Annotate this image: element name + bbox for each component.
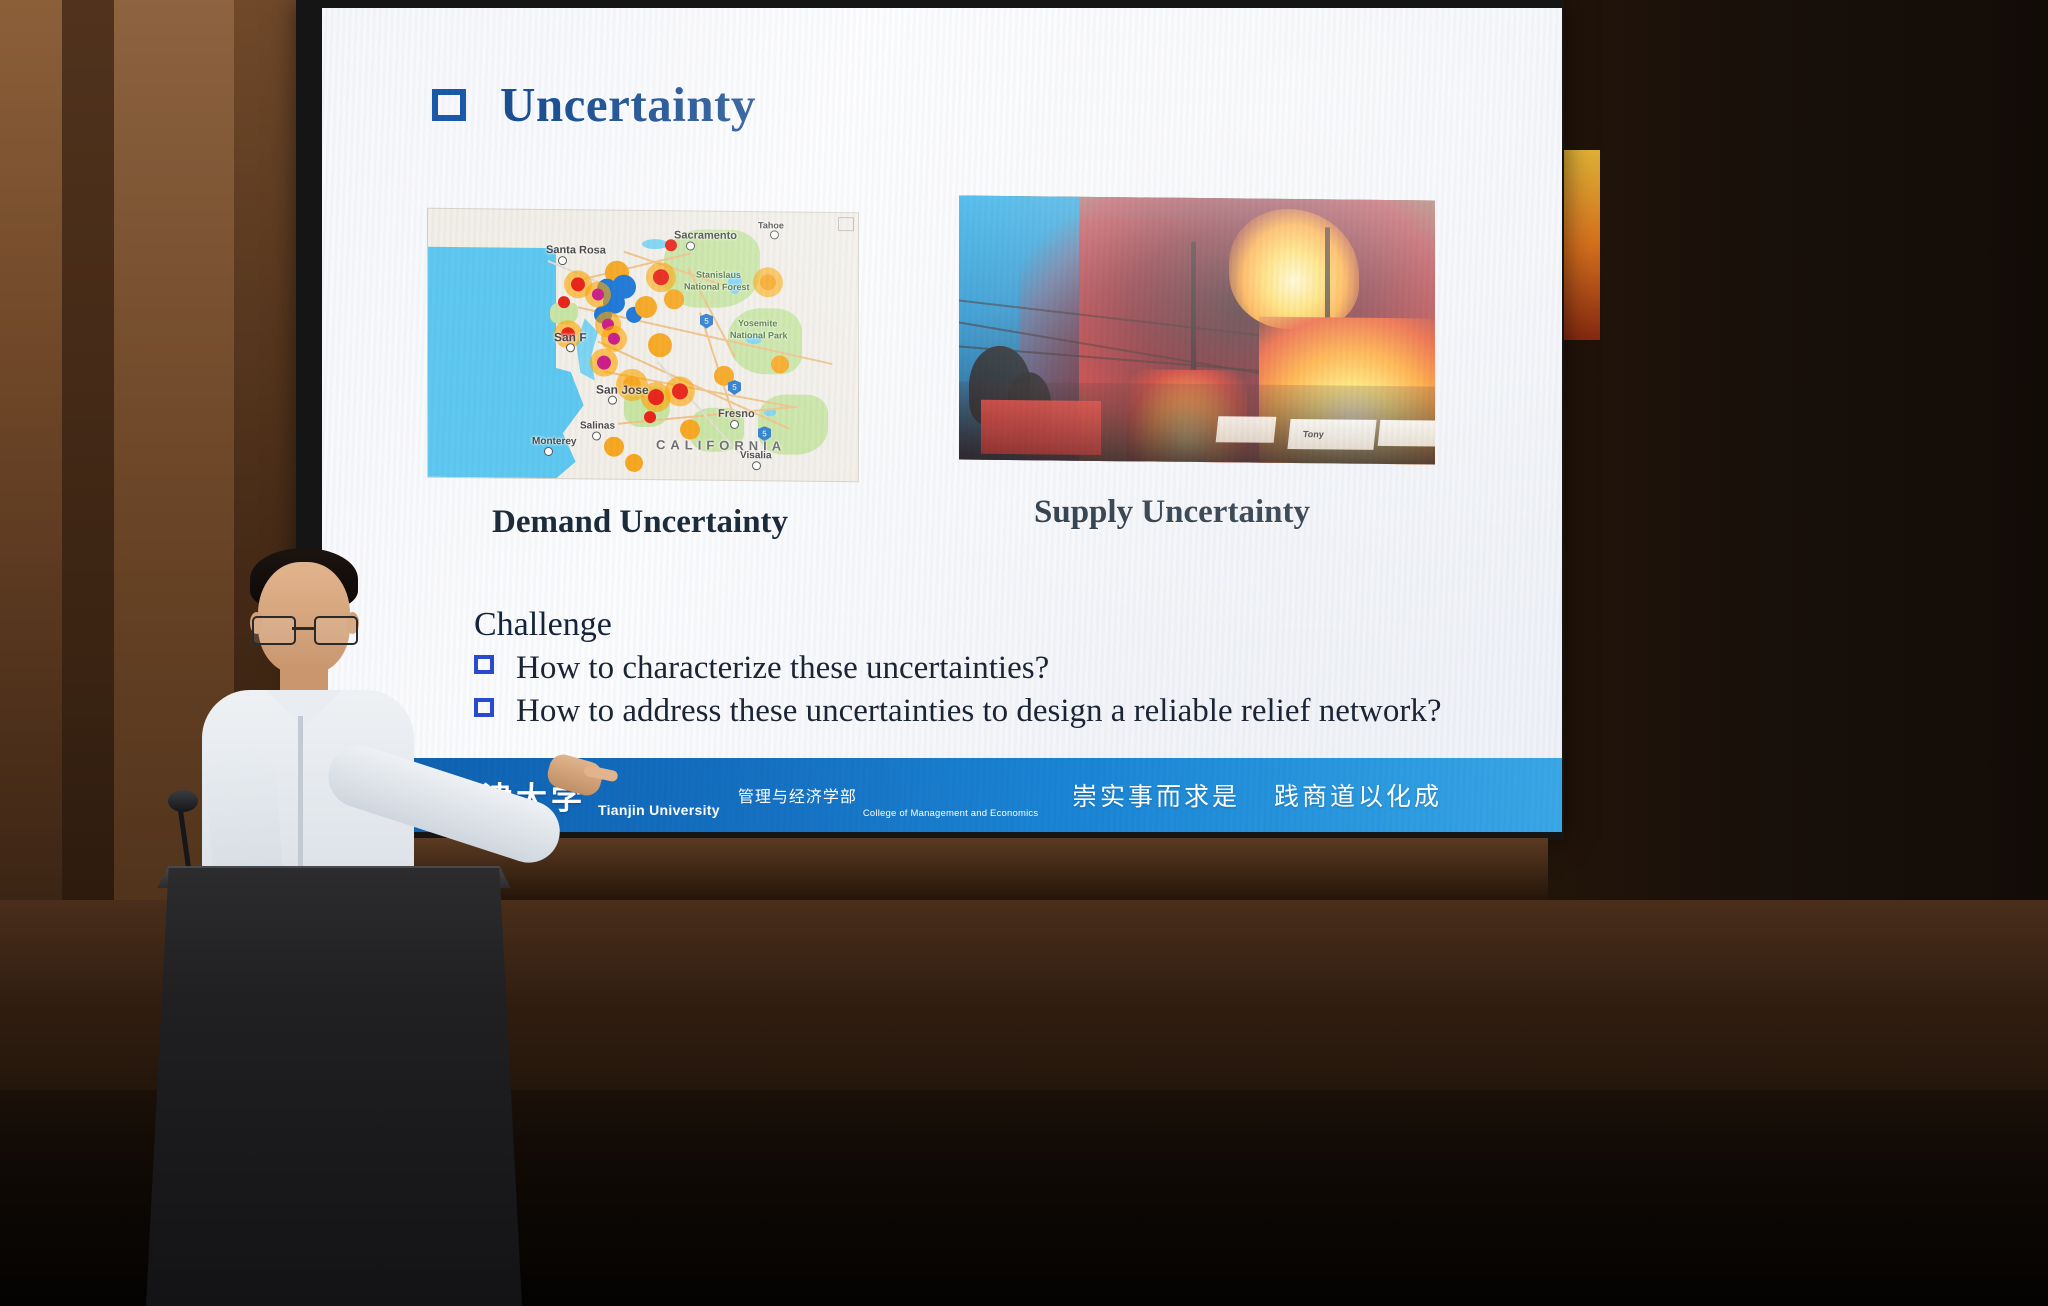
map-label: CALIFORNIA (656, 437, 786, 453)
map-marker (604, 437, 624, 457)
map-label: Sacramento (674, 229, 737, 242)
map-city-dot (752, 461, 761, 470)
challenge-item-text: How to address these uncertainties to de… (516, 693, 1442, 730)
motto-right: 践商道以化成 (1274, 777, 1442, 813)
map-label: Fresno (718, 408, 755, 420)
glasses-lens (314, 616, 358, 645)
map-marker (771, 355, 789, 373)
photo-banner (1378, 420, 1435, 447)
slide-title-row: Uncertainty (432, 76, 756, 133)
photo-fire-truck (981, 400, 1101, 455)
supply-uncertainty-photo: Tony (959, 196, 1435, 465)
highway-shield-icon: 5 (700, 314, 713, 329)
map-marker (648, 389, 664, 405)
challenge-list-item: How to characterize these uncertainties? (474, 650, 1442, 687)
college-name-en: College of Management and Economics (863, 808, 1038, 819)
map-city-dot (544, 447, 553, 456)
map-marker (664, 289, 684, 309)
highway-shield-icon: 5 (728, 380, 741, 395)
caption-supply-uncertainty: Supply Uncertainty (1034, 494, 1310, 531)
challenge-list-item: How to address these uncertainties to de… (474, 693, 1442, 730)
map-label: Salinas (580, 420, 615, 431)
map-label: Santa Rosa (546, 244, 606, 257)
page-title: Uncertainty (500, 76, 756, 133)
map-marker (597, 356, 611, 370)
college-name-cn: 管理与经济学部 (738, 783, 857, 807)
map-city-dot (770, 230, 779, 239)
map-marker (602, 319, 614, 331)
map-city-dot (592, 431, 601, 440)
map-label: National Park (730, 330, 788, 341)
glasses-lens (252, 616, 296, 645)
map-marker (648, 333, 672, 357)
glasses-bridge (292, 627, 314, 630)
map-label: National Forest (684, 281, 750, 292)
map-marker (635, 296, 657, 318)
podium (146, 868, 522, 1306)
map-label: Monterey (532, 436, 576, 447)
map-expand-icon (838, 217, 854, 231)
challenge-heading: Challenge (474, 606, 1442, 644)
map-marker (592, 288, 604, 300)
challenge-block: Challenge How to characterize these unce… (474, 606, 1442, 730)
university-motto: 崇实事而求是 践商道以化成 (1072, 777, 1442, 813)
map-marker (625, 454, 643, 472)
caption-demand-uncertainty: Demand Uncertainty (492, 504, 788, 541)
map-marker (644, 411, 656, 423)
square-outline-icon (432, 89, 466, 121)
photo-banner (1216, 416, 1277, 443)
map-city-dot (730, 420, 739, 429)
map-label: San Jose (596, 383, 649, 398)
map-city-dot (558, 256, 567, 265)
map-bay (576, 318, 598, 380)
motto-left: 崇实事而求是 (1072, 777, 1240, 813)
photo-banner (1287, 419, 1376, 450)
map-city-dot (566, 343, 575, 352)
shirt-placket (298, 716, 303, 892)
map-city-dot (686, 241, 695, 250)
map-marker (571, 277, 585, 291)
map-city-dot (608, 396, 617, 405)
scene-root: Uncertainty (0, 0, 2048, 1306)
map-marker (672, 383, 688, 399)
map-label: Tahoe (758, 220, 784, 230)
map-label: Yosemite (738, 318, 777, 328)
map-marker (760, 274, 776, 290)
microphone-icon (168, 790, 198, 812)
map-marker (653, 269, 669, 285)
university-name-en: Tianjin University (598, 802, 720, 818)
map-marker (558, 296, 570, 308)
glasses-icon (252, 616, 356, 642)
photo-banner-text: Tony (1302, 429, 1324, 439)
map-marker (608, 333, 620, 345)
map-label: Stanislaus (696, 270, 741, 280)
demand-uncertainty-map: 555SacramentoSanta RosaTahoeStanislausNa… (427, 208, 859, 483)
slide-media-row: 555SacramentoSanta RosaTahoeStanislausNa… (322, 198, 1562, 488)
